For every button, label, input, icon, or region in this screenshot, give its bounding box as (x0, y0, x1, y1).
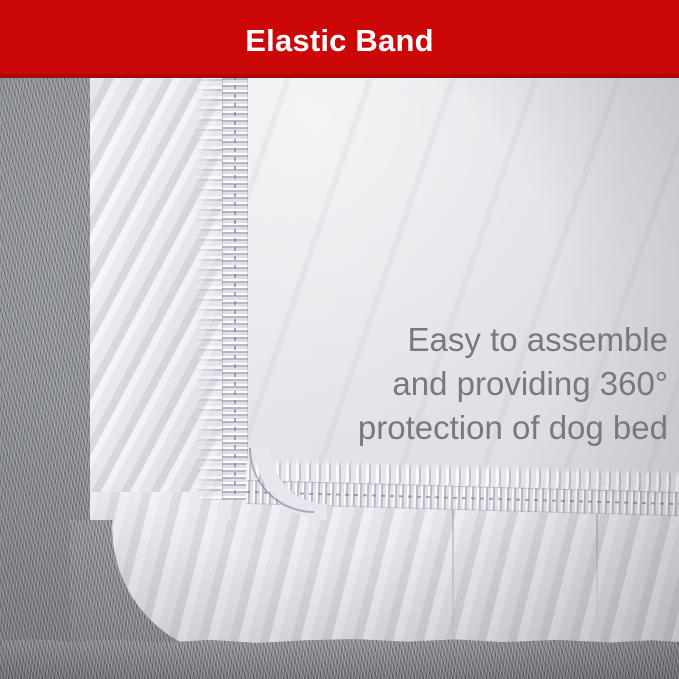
header-banner: Elastic Band (0, 0, 679, 78)
banner-title: Elastic Band (245, 25, 433, 56)
overlay-copy-line-2: and providing 360° (248, 362, 668, 406)
overlay-copy-line-1: Easy to assemble (248, 318, 668, 362)
overlay-copy-line-3: protection of dog bed (248, 406, 668, 450)
product-image-stage: Elastic Band Easy to assemble and provid… (0, 0, 679, 679)
overlay-copy: Easy to assemble and providing 360° prot… (248, 318, 668, 450)
banner-underline (0, 74, 679, 78)
